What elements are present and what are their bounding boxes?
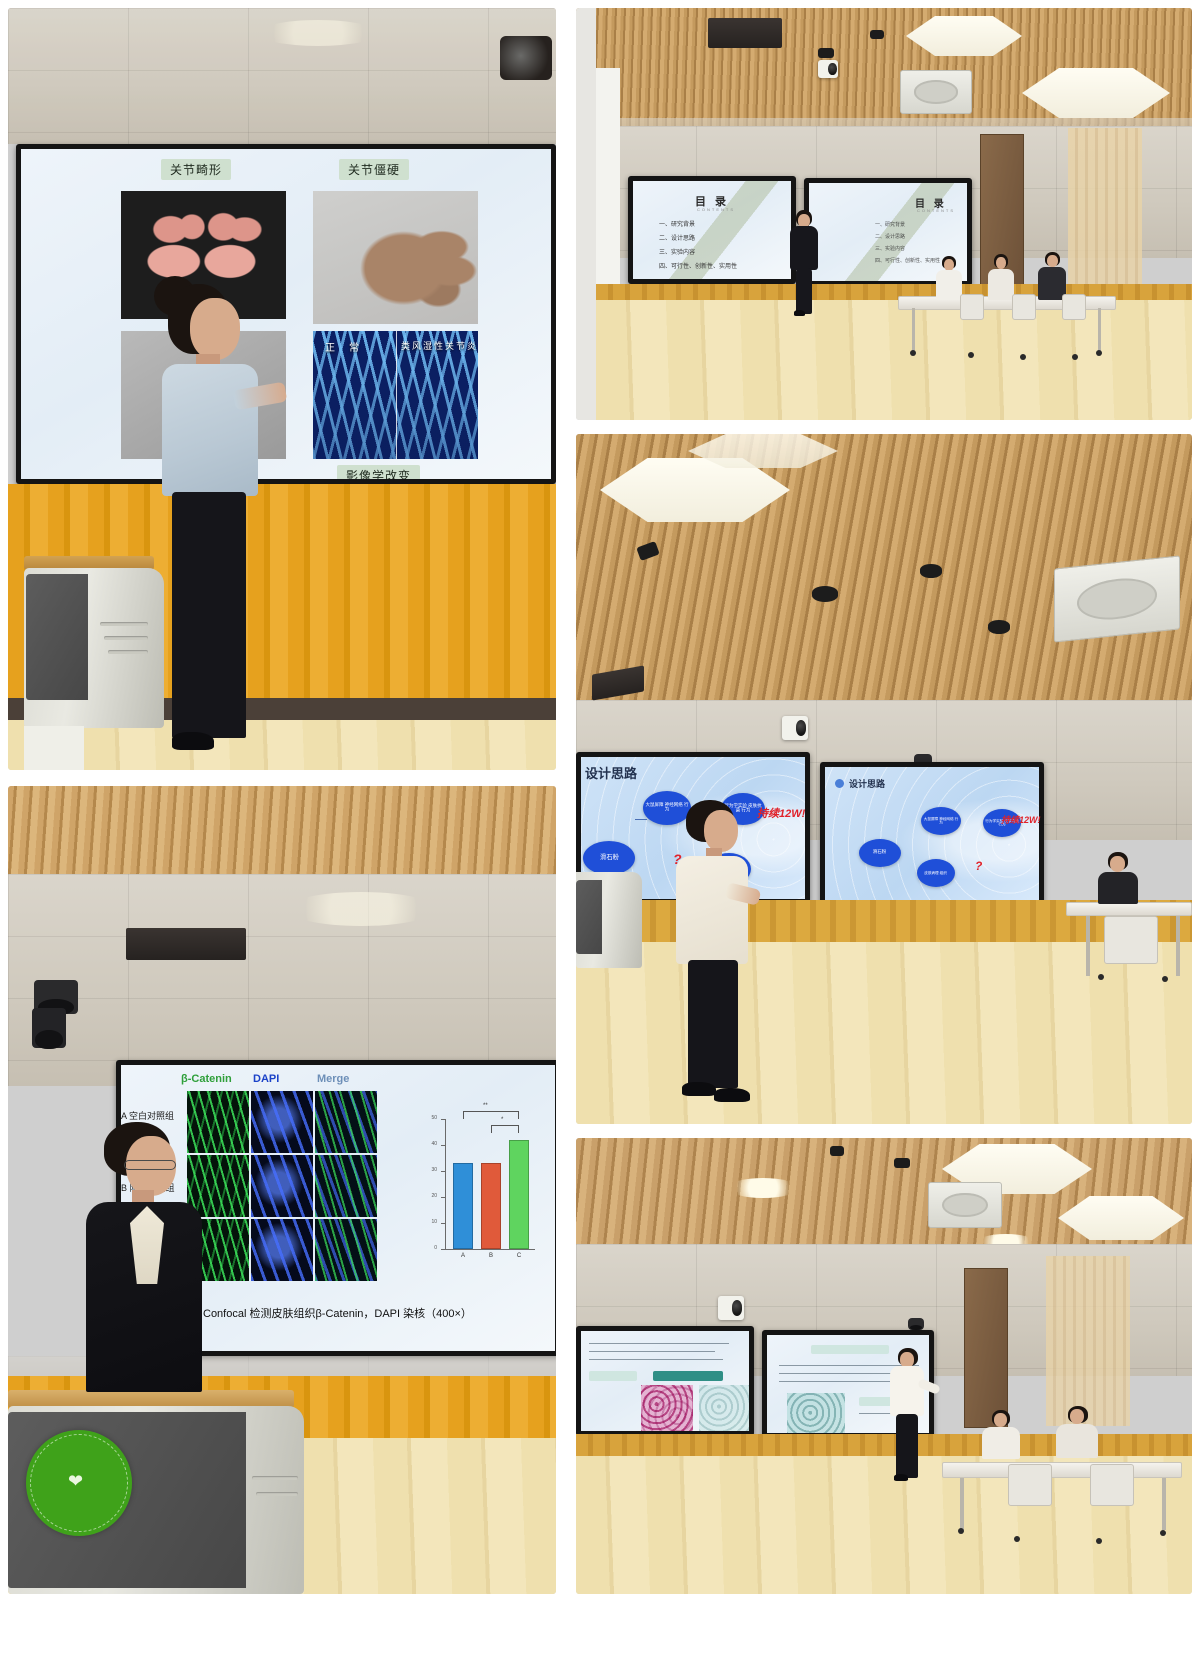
speaker-icon	[708, 18, 782, 48]
xray-label-normal: 正 常	[325, 339, 361, 354]
panel-4-confocal-slide[interactable]: β-Catenin DAPI Merge A 空白对照组 B 阳性对照组 C 干…	[8, 786, 556, 1594]
bubble-label: 滑石粉	[873, 851, 887, 856]
slide-subtitle-contents: CONTENTS	[697, 207, 735, 212]
slide-row-label-a: A 空白对照组	[121, 1109, 174, 1122]
presenter-shirt	[676, 856, 748, 964]
slide-band-left	[589, 1371, 637, 1381]
slide-title-design: 设计思路	[585, 763, 637, 782]
slide-image-special-stain	[699, 1385, 749, 1431]
presentation-screen-right: 设计思路 大鼠屏障 神经网络 行为 行为学实验 皮肤抗菌 行为 滑石粉 皮肤病理…	[820, 762, 1044, 906]
presenter-figure	[138, 276, 278, 770]
presenter-figure	[884, 1348, 932, 1496]
spot-light-icon	[894, 1158, 910, 1168]
slide-bubble-2-4: 皮肤病理 组织	[917, 859, 955, 887]
chart-bar-b	[481, 1163, 501, 1249]
slide-image-hand-xray: 正 常 类风湿性关节炎	[313, 331, 478, 459]
slide-caption: Confocal 检测皮肤组织β-Catenin，DAPI 染核（400×）	[203, 1305, 472, 1321]
door-icon[interactable]	[964, 1268, 1008, 1428]
downlight-icon	[286, 892, 436, 926]
slide-header-bcatenin: β-Catenin	[181, 1073, 232, 1085]
slide-item-2: 二、设计思路	[659, 233, 695, 242]
slide-item-3: 三、实验内容	[659, 247, 695, 256]
confocal-cell-c2	[251, 1219, 313, 1281]
slide-image-stiff-hand	[313, 191, 478, 324]
chart-xtick-a: A	[453, 1253, 473, 1259]
panel-5-histology-slide-room[interactable]	[576, 1138, 1192, 1594]
ptz-camera-icon	[908, 1318, 924, 1330]
slide-band-title	[811, 1345, 889, 1354]
slide-title-design-2: 设计思路	[849, 777, 885, 790]
photo-collage: 关节畸形 关节僵硬 影像学改变 正 常 类风湿性关节炎	[0, 0, 1200, 1680]
slide-item-2-4: 四、可行性、创新性、实用性	[875, 257, 940, 264]
university-logo-icon: ❤	[26, 1430, 132, 1536]
spot-light-icon	[988, 620, 1010, 634]
panel-2-contents-slide-room[interactable]: 目 录 CONTENTS 一、研究背景 二、设计思路 三、实验内容 四、可行性、…	[576, 8, 1192, 420]
chart-significance-bracket-2	[491, 1125, 519, 1133]
glasses-icon	[124, 1160, 176, 1170]
spot-light-icon	[818, 48, 834, 58]
slide-tag-imaging-change: 影像学改变	[337, 465, 420, 479]
slide-item-1: 一、研究背景	[659, 219, 695, 228]
bubble-label: 滑石粉	[600, 855, 619, 862]
presenter-shirt	[162, 364, 258, 496]
chart-significance-bracket-1	[463, 1111, 519, 1119]
slide-image-special-stain-2	[787, 1393, 845, 1433]
slide-annotation-duration: 持续12W!	[757, 805, 805, 821]
presenter-figure	[86, 1122, 216, 1422]
camera-icon	[718, 1296, 744, 1320]
presenter-figure	[670, 800, 758, 1112]
bar-chart: 50 40 30 20 10 0 A B C **	[417, 1111, 539, 1287]
slide-header-merge: Merge	[317, 1073, 349, 1085]
bubble-label: 皮肤病理 组织	[925, 871, 948, 875]
spot-light-icon	[830, 1146, 844, 1156]
confocal-cell-b3	[315, 1155, 377, 1217]
slide-item-2-1: 一、研究背景	[875, 221, 905, 228]
slide-header-dapi: DAPI	[253, 1073, 279, 1085]
speaker-icon	[500, 36, 552, 80]
slide-subtitle-contents-2: CONTENTS	[917, 208, 955, 213]
slide-item-2-3: 三、实验内容	[875, 245, 905, 252]
downlight-icon	[728, 1178, 798, 1198]
chart-bar-c	[509, 1140, 529, 1249]
spot-light-icon	[870, 30, 884, 39]
air-conditioner-icon	[1054, 555, 1180, 642]
xray-label-ra: 类风湿性关节炎	[401, 339, 478, 352]
chart-ytick-0: 0	[417, 1245, 437, 1251]
speaker-icon	[126, 928, 246, 960]
slide-image-he-stain	[641, 1385, 693, 1431]
audience-figure-1	[1096, 852, 1142, 914]
air-conditioner-icon	[928, 1182, 1002, 1228]
confocal-cell-a2	[251, 1091, 313, 1153]
chart-xtick-c: C	[509, 1253, 529, 1259]
slide-tag-joint-stiffness: 关节僵硬	[339, 159, 409, 180]
confocal-cell-a3	[315, 1091, 377, 1153]
spot-light-icon	[920, 564, 942, 578]
chart-y-axis	[445, 1119, 446, 1249]
chart-significance-star-2: *	[501, 1117, 503, 1123]
chart-bar-a	[453, 1163, 473, 1249]
chart-significance-star-1: **	[483, 1103, 488, 1109]
slide-bubble-2-1: 大鼠屏障 神经网络 行为	[921, 807, 961, 835]
camera-icon	[782, 716, 808, 740]
slide-item-2-2: 二、设计思路	[875, 233, 905, 240]
ptz-camera-mount	[32, 1008, 66, 1048]
slide-band-right	[653, 1371, 723, 1381]
panel-3-design-approach-slide[interactable]: 设计思路 大鼠屏障 神经网络 行为 行为学实验 皮肤抗菌 行为 滑石粉 皮肤病理…	[576, 434, 1192, 1124]
presenter-top	[890, 1366, 924, 1416]
chart-xtick-b: B	[481, 1253, 501, 1259]
spot-light-icon	[812, 586, 838, 602]
chart-ytick-50: 50	[417, 1115, 437, 1121]
slide-question-mark-2: ?	[975, 859, 982, 873]
slide-bubble-3: 滑石粉	[583, 841, 635, 875]
presentation-screen: 关节畸形 关节僵硬 影像学改变 正 常 类风湿性关节炎	[16, 144, 556, 484]
podium-panel	[26, 574, 88, 700]
presentation-screen-left: 目 录 CONTENTS 一、研究背景 二、设计思路 三、实验内容 四、可行性、…	[628, 176, 796, 284]
panel-1-presenter-ra-slide[interactable]: 关节畸形 关节僵硬 影像学改变 正 常 类风湿性关节炎	[8, 8, 556, 770]
slide-bullet-icon	[835, 779, 844, 788]
chart-x-axis	[445, 1249, 535, 1250]
confocal-cell-b2	[251, 1155, 313, 1217]
presentation-screen-left	[576, 1326, 754, 1436]
slide-bubble-2-3: 滑石粉	[859, 839, 901, 867]
chart-ytick-20: 20	[417, 1193, 437, 1199]
bubble-label: 大鼠屏障 神经网络 行为	[923, 817, 959, 825]
slide-tag-joint-deformity: 关节畸形	[161, 159, 231, 180]
chart-ytick-30: 30	[417, 1167, 437, 1173]
downlight-icon	[258, 20, 378, 46]
chart-ytick-10: 10	[417, 1219, 437, 1225]
slide-annotation-duration-2: 持续12W!	[1001, 813, 1041, 826]
slide-item-4: 四、可行性、创新性、实用性	[659, 261, 737, 270]
camera-icon	[818, 60, 838, 78]
chart-ytick-40: 40	[417, 1141, 437, 1147]
air-conditioner-icon	[900, 70, 972, 114]
presenter-figure	[784, 210, 824, 320]
confocal-cell-c3	[315, 1219, 377, 1281]
